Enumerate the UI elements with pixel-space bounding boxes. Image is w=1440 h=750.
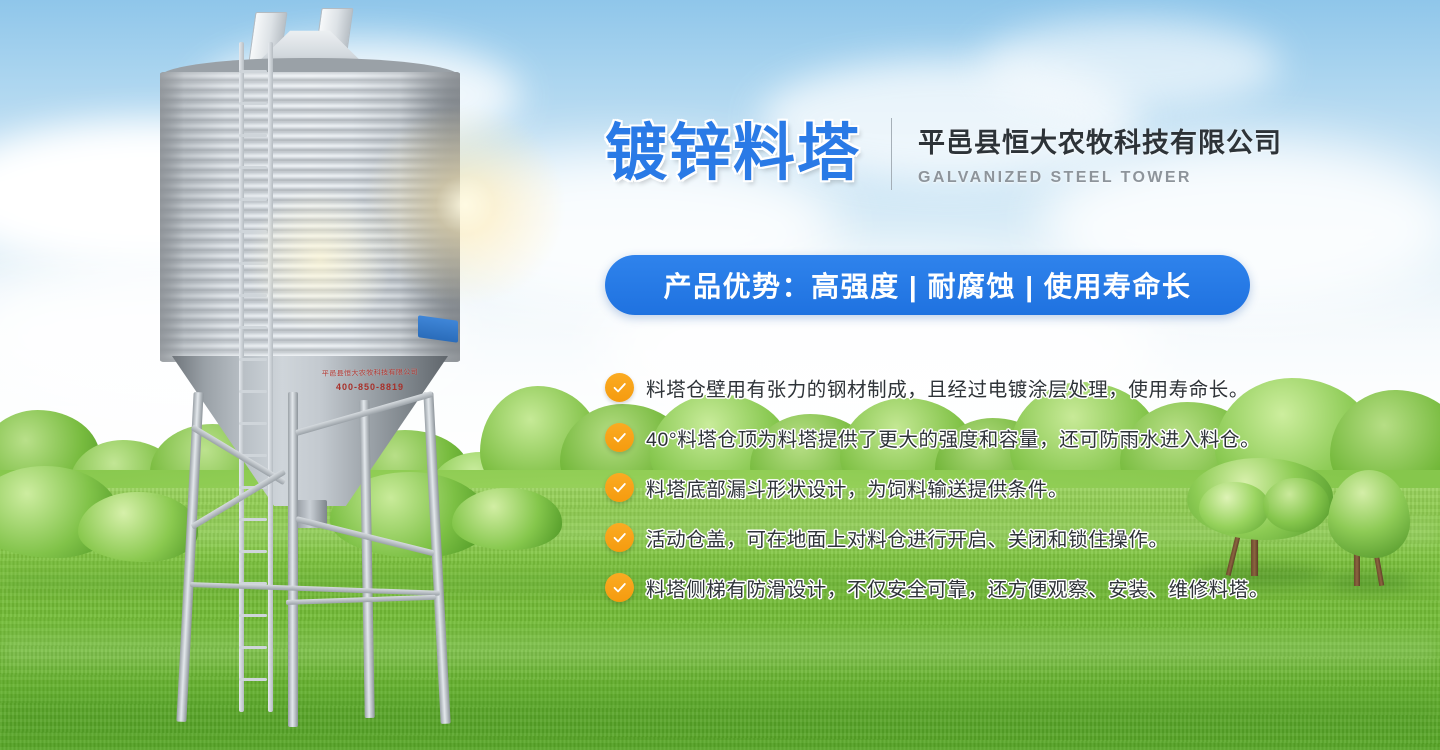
check-icon — [605, 573, 634, 602]
company-subtitle: GALVANIZED STEEL TOWER — [918, 169, 1282, 187]
feature-item: 料塔底部漏斗形状设计，为饲料输送提供条件。 — [605, 462, 1325, 512]
headline-row: 镀锌料塔 平邑县恒大农牧科技有限公司 GALVANIZED STEEL TOWE… — [605, 118, 1282, 190]
feature-text: 料塔侧梯有防滑设计，不仅安全可靠，还方便观察、安装、维修料塔。 — [646, 573, 1269, 602]
check-icon — [605, 423, 634, 452]
feature-text: 40°料塔仓顶为料塔提供了更大的强度和容量，还可防雨水进入料仓。 — [646, 423, 1260, 452]
product-advantage-text: 产品优势：高强度 | 耐腐蚀 | 使用寿命长 — [664, 265, 1192, 305]
title-divider — [891, 118, 892, 190]
company-name: 平邑县恒大农牧科技有限公司 — [918, 121, 1282, 160]
product-advantage-banner: 产品优势：高强度 | 耐腐蚀 | 使用寿命长 — [605, 255, 1250, 315]
feature-item: 40°料塔仓顶为料塔提供了更大的强度和容量，还可防雨水进入料仓。 — [605, 412, 1325, 462]
page-title: 镀锌料塔 — [605, 123, 861, 185]
check-icon — [605, 523, 634, 552]
feature-item: 活动仓盖，可在地面上对料仓进行开启、关闭和锁住操作。 — [605, 512, 1325, 562]
feature-item: 料塔仓壁用有张力的钢材制成，且经过电镀涂层处理，使用寿命长。 — [605, 362, 1325, 412]
feature-text: 料塔底部漏斗形状设计，为饲料输送提供条件。 — [646, 473, 1068, 502]
check-icon — [605, 473, 634, 502]
feature-item: 料塔侧梯有防滑设计，不仅安全可靠，还方便观察、安装、维修料塔。 — [605, 562, 1325, 612]
company-block: 平邑县恒大农牧科技有限公司 GALVANIZED STEEL TOWER — [918, 121, 1282, 187]
content-layer: 镀锌料塔 平邑县恒大农牧科技有限公司 GALVANIZED STEEL TOWE… — [0, 0, 1440, 750]
feature-text: 活动仓盖，可在地面上对料仓进行开启、关闭和锁住操作。 — [646, 523, 1169, 552]
check-icon — [605, 373, 634, 402]
feature-text: 料塔仓壁用有张力的钢材制成，且经过电镀涂层处理，使用寿命长。 — [646, 373, 1249, 402]
promo-banner: 平邑县恒大农牧科技有限公司 400-850-8819 镀锌料塔 平邑县恒大农牧科… — [0, 0, 1440, 750]
feature-list: 料塔仓壁用有张力的钢材制成，且经过电镀涂层处理，使用寿命长。 40°料塔仓顶为料… — [605, 362, 1325, 612]
